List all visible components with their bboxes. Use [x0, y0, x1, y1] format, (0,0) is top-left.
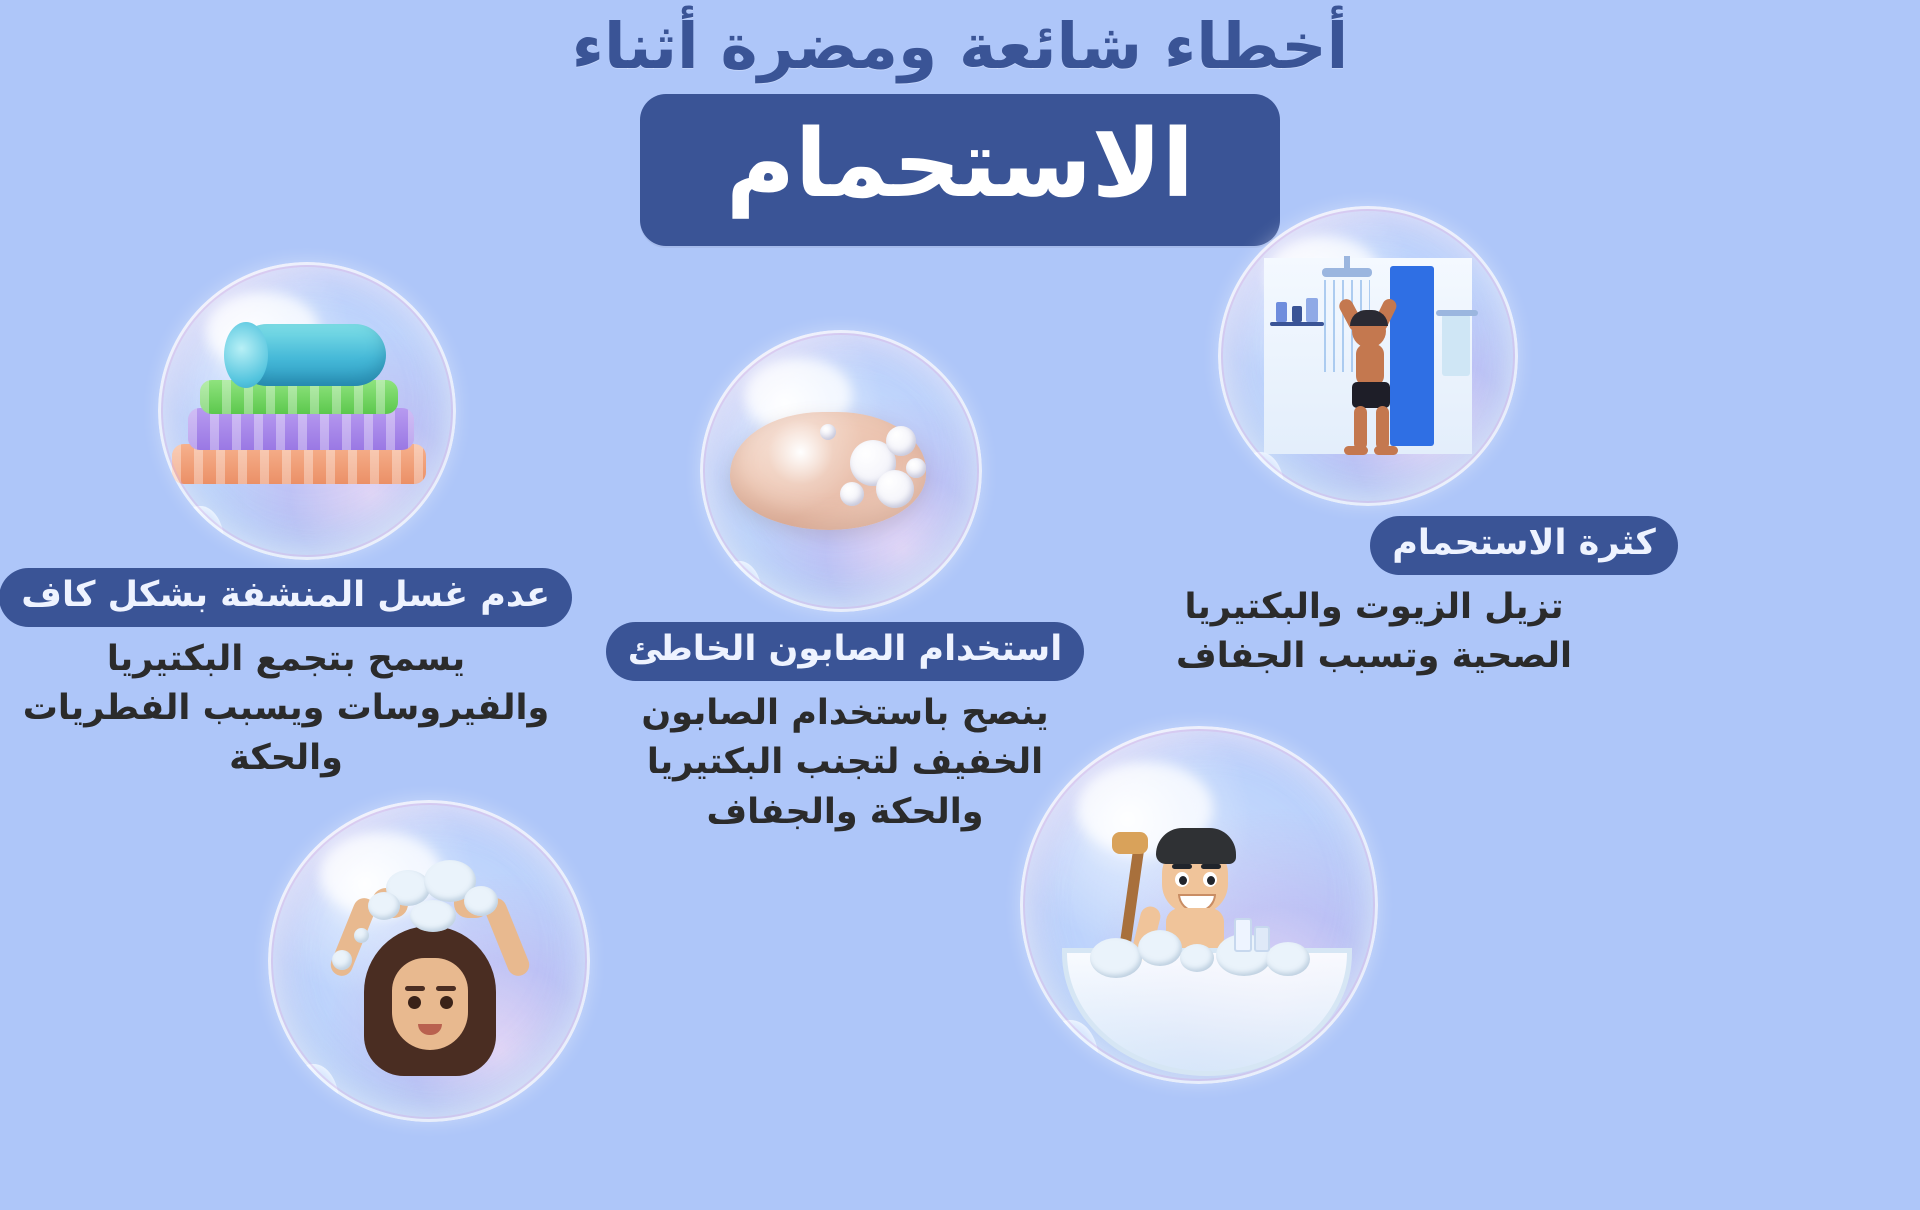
section-soap-body: ينصح باستخدام الصابون الخفيف لتجنب البكت…: [604, 689, 1086, 838]
header: أخطاء شائعة ومضرة أثناء الاستحمام: [0, 0, 1920, 246]
page-subtitle: أخطاء شائعة ومضرة أثناء: [0, 0, 1920, 80]
bubble-towels: [158, 262, 456, 560]
bubble-highlight: [745, 358, 852, 431]
bubble-highlight: [320, 832, 442, 916]
bubble-soap: [700, 330, 982, 612]
bubble-drip: [1236, 452, 1284, 506]
bubble-rim: [700, 330, 982, 612]
bubble-highlight: [206, 292, 319, 369]
folded-towels-icon: [158, 262, 456, 560]
bubble-highlight: [1266, 236, 1380, 314]
bubble-highlight: [1077, 762, 1213, 855]
bubble-drip: [287, 1064, 339, 1122]
section-towel: عدم غسل المنشفة بشكل كاف يسمح بتجمع البك…: [0, 568, 572, 784]
bubble-rim: [1218, 206, 1518, 506]
section-frequency: كثرة الاستحمام تزيل الزيوت والبكتيريا ال…: [1128, 516, 1920, 682]
bubble-drip: [176, 506, 224, 560]
bubble-drip: [717, 561, 762, 612]
bubble-hair-wash: [268, 800, 590, 1122]
bubble-rim: [158, 262, 456, 560]
section-frequency-body: تزيل الزيوت والبكتيريا الصحية وتسبب الجف…: [1128, 583, 1920, 682]
soap-bar-icon: [700, 330, 982, 612]
section-towel-body: يسمح بتجمع البكتيريا والفيروسات ويسبب ال…: [0, 635, 572, 784]
section-towel-badge[interactable]: عدم غسل المنشفة بشكل كاف: [0, 568, 572, 627]
section-soap-badge[interactable]: استخدام الصابون الخاطئ: [606, 622, 1084, 681]
page-title: الاستحمام: [640, 94, 1280, 246]
bubble-drip: [1041, 1020, 1098, 1084]
bubble-rim: [268, 800, 590, 1122]
section-frequency-badge[interactable]: كثرة الاستحمام: [1370, 516, 1678, 575]
woman-washing-hair-icon: [268, 800, 590, 1122]
bubble-shower: [1218, 206, 1518, 506]
person-showering-icon: [1218, 206, 1518, 506]
infographic-canvas: أخطاء شائعة ومضرة أثناء الاستحمام: [0, 0, 1920, 1210]
section-soap: استخدام الصابون الخاطئ ينصح باستخدام الص…: [604, 622, 1086, 838]
